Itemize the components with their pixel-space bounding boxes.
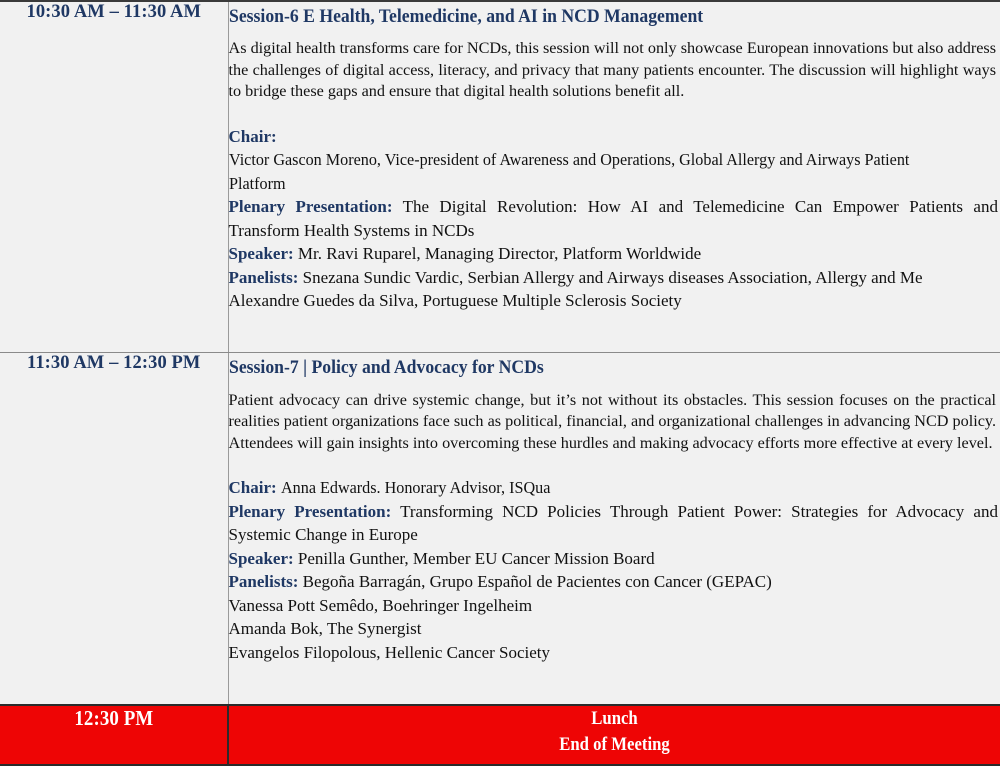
end-of-meeting-label: End of Meeting — [275, 732, 953, 758]
detail-value: Evangelos Filopolous, Hellenic Cancer So… — [229, 643, 551, 662]
session-time-label: 11:30 AM – 12:30 PM — [27, 353, 201, 373]
session-details: Chair: Victor Gascon Moreno, Vice-presid… — [229, 125, 1000, 313]
session-title: Session-7 | Policy and Advocacy for NCDs — [229, 356, 946, 380]
detail-panelist-extra: Alexandre Guedes da Silva, Portuguese Mu… — [229, 289, 1000, 312]
detail-plenary-presentation: Plenary Presentation: Transforming NCD P… — [229, 500, 1000, 547]
table-row: 11:30 AM – 12:30 PM Session-7 | Policy a… — [0, 353, 1000, 705]
session-time-label: 10:30 AM – 11:30 AM — [26, 2, 201, 22]
detail-label: Plenary Presentation: — [229, 502, 392, 521]
detail-value: Snezana Sundic Vardic, Serbian Allergy a… — [303, 268, 923, 287]
detail-label: Chair: — [229, 478, 277, 497]
detail-label: Panelists: — [229, 572, 299, 591]
detail-chair: Chair: Anna Edwards. Honorary Advisor, I… — [229, 476, 1000, 499]
detail-label: Speaker: — [229, 244, 294, 263]
detail-plenary-presentation: Plenary Presentation: The Digital Revolu… — [229, 195, 1000, 242]
lunch-time-label: 12:30 PM — [74, 706, 153, 731]
detail-panelist-extra: Amanda Bok, The Synergist — [229, 617, 1000, 640]
detail-chair: Chair: Victor Gascon Moreno, Vice-presid… — [229, 125, 1000, 195]
session-time-cell: 10:30 AM – 11:30 AM — [0, 1, 228, 353]
detail-value: Anna Edwards. Honorary Advisor, ISQua — [281, 476, 550, 499]
session-title: Session-6 E Health, Telemedicine, and AI… — [229, 5, 946, 29]
detail-value: Alexandre Guedes da Silva, Portuguese Mu… — [229, 291, 682, 310]
session-content-cell: Session-6 E Health, Telemedicine, and AI… — [228, 1, 1000, 353]
detail-panelist-extra: Evangelos Filopolous, Hellenic Cancer So… — [229, 641, 1000, 664]
detail-value: Mr. Ravi Ruparel, Managing Director, Pla… — [298, 244, 701, 263]
detail-speaker: Speaker: Mr. Ravi Ruparel, Managing Dire… — [229, 242, 1000, 265]
detail-value: Victor Gascon Moreno, Vice-president of … — [229, 148, 960, 195]
detail-panelists: Panelists: Begoña Barragán, Grupo Españo… — [229, 570, 1000, 593]
detail-label: Speaker: — [229, 549, 294, 568]
detail-label: Plenary Presentation: — [229, 197, 393, 216]
lunch-content-cell: Lunch End of Meeting — [228, 705, 1000, 765]
detail-panelist-extra: Vanessa Pott Semêdo, Boehringer Ingelhei… — [229, 594, 1000, 617]
table-row: 10:30 AM – 11:30 AM Session-6 E Health, … — [0, 1, 1000, 353]
detail-value: Begoña Barragán, Grupo Español de Pacien… — [303, 572, 772, 591]
detail-value: Amanda Bok, The Synergist — [229, 619, 422, 638]
detail-value: Penilla Gunther, Member EU Cancer Missio… — [298, 549, 655, 568]
lunch-time-cell: 12:30 PM — [0, 705, 228, 765]
lunch-label: Lunch — [275, 706, 953, 732]
session-description: As digital health transforms care for NC… — [229, 38, 999, 103]
detail-value: Vanessa Pott Semêdo, Boehringer Ingelhei… — [229, 596, 533, 615]
session-content-cell: Session-7 | Policy and Advocacy for NCDs… — [228, 353, 1000, 705]
lunch-row: 12:30 PM Lunch End of Meeting — [0, 705, 1000, 765]
session-details: Chair: Anna Edwards. Honorary Advisor, I… — [229, 476, 1000, 664]
detail-speaker: Speaker: Penilla Gunther, Member EU Canc… — [229, 547, 1000, 570]
detail-label: Panelists: — [229, 268, 299, 287]
detail-label: Chair: — [229, 127, 277, 146]
agenda-table: 10:30 AM – 11:30 AM Session-6 E Health, … — [0, 0, 1000, 766]
detail-panelists: Panelists: Snezana Sundic Vardic, Serbia… — [229, 266, 1000, 289]
session-description: Patient advocacy can drive systemic chan… — [229, 390, 999, 455]
session-time-cell: 11:30 AM – 12:30 PM — [0, 353, 228, 705]
